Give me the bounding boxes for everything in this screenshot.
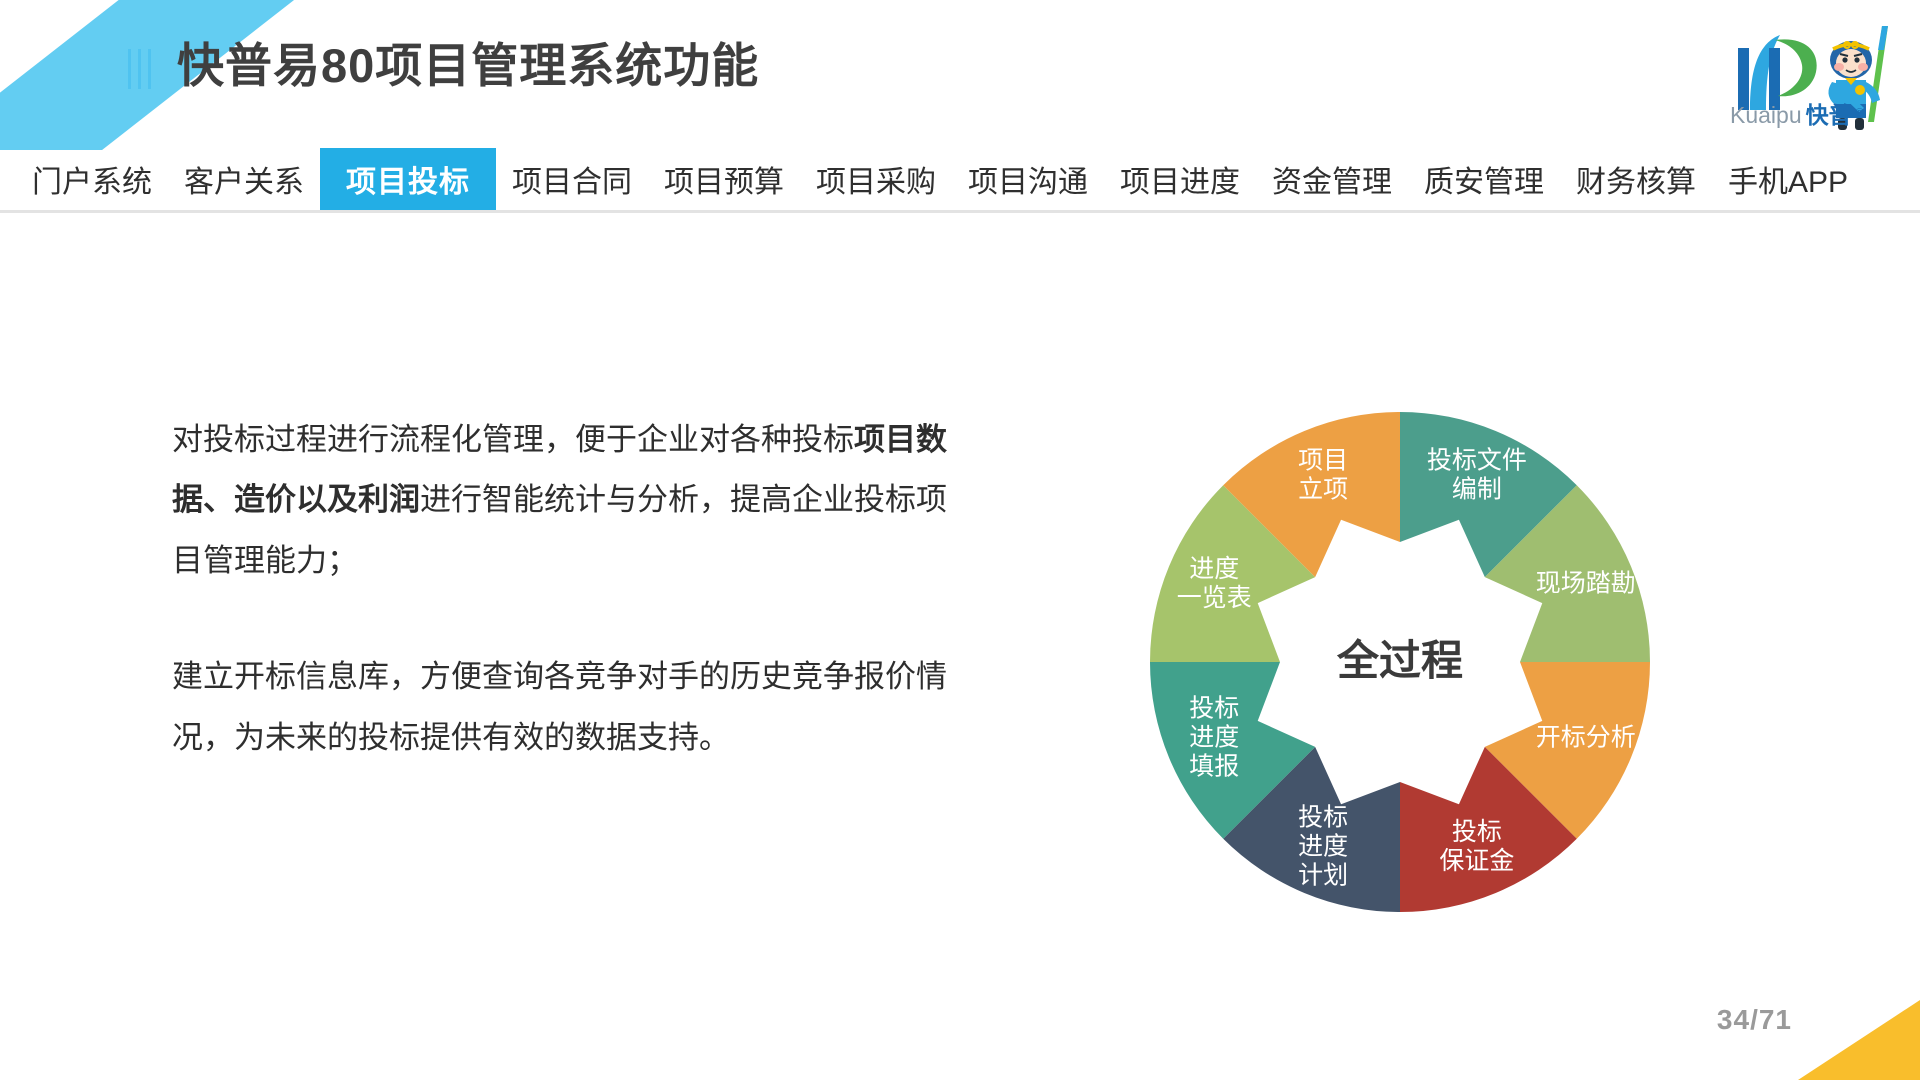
wheel-segment-label: 编制 (1452, 475, 1502, 503)
nav-item-mobile-app[interactable]: 手机APP (1712, 148, 1864, 210)
module-nav-bar[interactable]: 门户系统 客户关系 项目投标 项目合同 项目预算 项目采购 项目沟通 项目进度 … (0, 148, 1920, 210)
nav-item-label: 项目进度 (1120, 157, 1240, 201)
nav-item-crm[interactable]: 客户关系 (168, 148, 320, 210)
wheel-segment-label: 投标文件 (1427, 446, 1527, 474)
nav-item-label: 门户系统 (32, 157, 152, 201)
kuaipu-logo: Kuaipu 快普 ® (1732, 18, 1902, 136)
process-wheel-diagram: 投标文件编制现场踏勘开标分析投标保证金投标进度计划投标进度填报进度一览表项目立项… (1080, 322, 1720, 1002)
paragraph-one-part-a: 对投标过程进行流程化管理，便于企业对各种投标 (172, 422, 854, 457)
nav-item-bidding[interactable]: 项目投标 (320, 148, 496, 210)
wheel-segment-label: 现场踏勘 (1536, 570, 1636, 598)
nav-item-communication[interactable]: 项目沟通 (952, 148, 1104, 210)
wheel-segment-label: 投标 (1452, 818, 1502, 846)
description-text-block: 对投标过程进行流程化管理，便于企业对各种投标项目数据、造价以及利润进行智能统计与… (172, 410, 962, 768)
logo-cn-wordmark: 快普 (1806, 104, 1852, 127)
nav-item-label: 项目采购 (816, 157, 936, 201)
nav-item-budget[interactable]: 项目预算 (648, 148, 800, 210)
wheel-segment-label: 计划 (1298, 861, 1348, 889)
nav-item-contract[interactable]: 项目合同 (496, 148, 648, 210)
wheel-segment-label: 进度 (1189, 555, 1239, 583)
nav-left-spacer (0, 148, 16, 210)
nav-item-label: 项目预算 (664, 157, 784, 201)
wheel-segment-label: 填报 (1189, 753, 1239, 781)
wheel-segment-label: 开标分析 (1536, 724, 1636, 752)
wheel-center-label: 全过程 (1336, 637, 1463, 684)
page-number: 34/71 (1717, 1004, 1792, 1036)
wheel-segment-label: 立项 (1298, 475, 1348, 503)
nav-item-procurement[interactable]: 项目采购 (800, 148, 952, 210)
wheel-svg: 投标文件编制现场踏勘开标分析投标保证金投标进度计划投标进度填报进度一览表项目立项… (1080, 322, 1720, 1002)
wheel-segment-label: 投标 (1298, 803, 1348, 831)
paragraph-two: 建立开标信息库，方便查询各竞争对手的历史竞争报价情况，为未来的投标提供有效的数据… (172, 647, 962, 768)
triple-bar-icon (128, 43, 151, 89)
page-header: 快普易80项目管理系统功能 (0, 0, 1920, 150)
nav-item-label: 质安管理 (1424, 157, 1544, 201)
nav-item-funds[interactable]: 资金管理 (1256, 148, 1408, 210)
wheel-segment-label: 保证金 (1439, 847, 1514, 875)
wheel-segment-label: 一览表 (1177, 584, 1252, 612)
page-title: 快普易80项目管理系统功能 (177, 42, 759, 89)
nav-item-label: 客户关系 (184, 157, 304, 201)
nav-item-label: 资金管理 (1272, 157, 1392, 201)
nav-item-progress[interactable]: 项目进度 (1104, 148, 1256, 210)
wheel-segment-label: 项目 (1298, 446, 1348, 474)
title-row: 快普易80项目管理系统功能 (128, 42, 759, 89)
registered-mark-icon: ® (1856, 108, 1864, 119)
nav-item-quality-safety[interactable]: 质安管理 (1408, 148, 1560, 210)
nav-item-label: 项目投标 (346, 157, 470, 201)
paragraph-one: 对投标过程进行流程化管理，便于企业对各种投标项目数据、造价以及利润进行智能统计与… (172, 410, 962, 591)
nav-item-label: 项目沟通 (968, 157, 1088, 201)
nav-divider (0, 210, 1920, 213)
nav-item-label: 财务核算 (1576, 157, 1696, 201)
corner-triangle (1798, 1000, 1920, 1080)
paragraph-spacer (172, 591, 962, 647)
wheel-segment-label: 进度 (1298, 832, 1348, 860)
wheel-segment-label: 投标 (1189, 695, 1239, 723)
logo-latin-wordmark: Kuaipu (1730, 104, 1802, 127)
corner-triangle-decoration (1798, 1000, 1920, 1080)
nav-item-label: 项目合同 (512, 157, 632, 201)
nav-item-label: 手机APP (1728, 157, 1848, 201)
nav-item-portal[interactable]: 门户系统 (16, 148, 168, 210)
wheel-segment-label: 进度 (1189, 724, 1239, 752)
nav-item-finance[interactable]: 财务核算 (1560, 148, 1712, 210)
